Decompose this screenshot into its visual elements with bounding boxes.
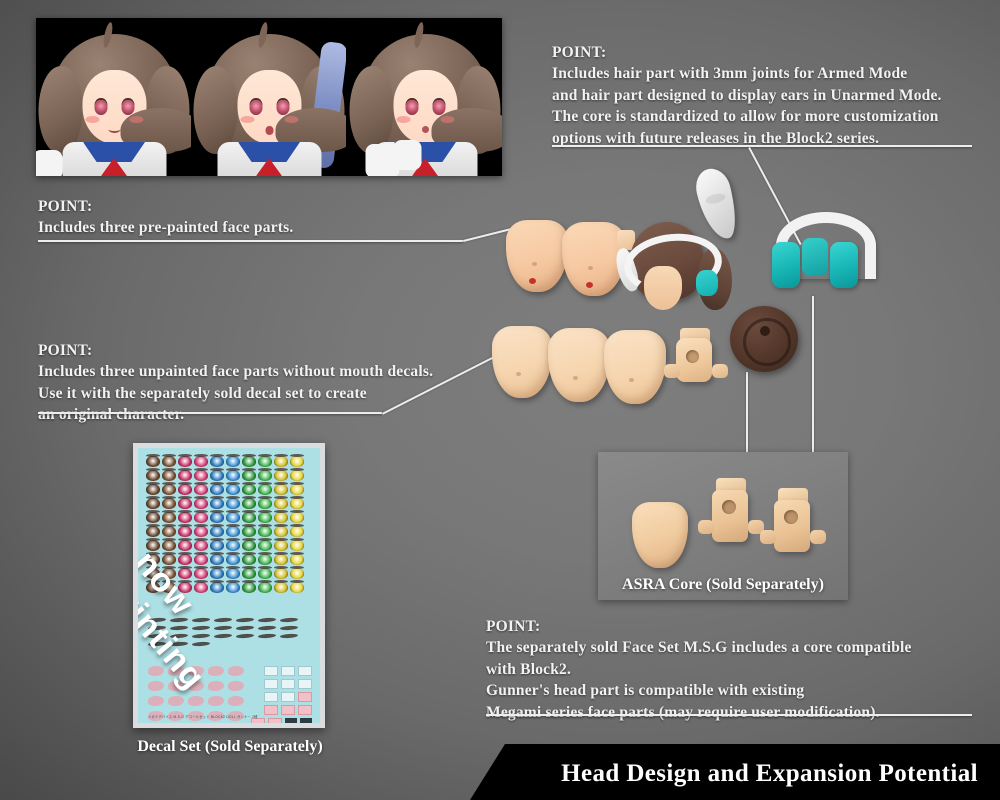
blush-decal	[148, 726, 164, 728]
unpainted-face-part-3	[604, 330, 666, 404]
leader-line-5	[746, 372, 748, 452]
eye-decal	[178, 470, 192, 481]
asra-core-part-2	[764, 488, 822, 562]
point-label: POINT:	[38, 340, 433, 361]
eye-decal	[146, 484, 160, 495]
point-hair-joints: POINT: Includes hair part with 3mm joint…	[552, 42, 942, 149]
eye-decal	[178, 498, 192, 509]
eye-decal	[194, 568, 208, 579]
eye-decal	[178, 554, 192, 565]
eyebrow-decal	[280, 625, 298, 630]
eye-decal	[226, 470, 240, 481]
eye-decal	[226, 484, 240, 495]
symbol-decal	[298, 666, 312, 676]
figure-photo-open-mouth	[191, 18, 346, 176]
eyebrow-decal	[258, 617, 276, 622]
figure-photo-surprised	[347, 18, 502, 176]
eye-decal	[274, 526, 288, 537]
point-line: Use it with the separately sold decal se…	[38, 383, 433, 404]
eyebrow-decal	[236, 617, 254, 622]
eye-decal	[258, 470, 272, 481]
symbol-decal	[298, 705, 312, 715]
decal-sheet: now printing メガミデバイス M.S.G デコールセット BLOCK…	[133, 443, 325, 728]
decal-footer-text: メガミデバイス M.S.G デコールセット BLOCK2 DOLL ガンナー 2…	[148, 714, 258, 719]
asra-core-part-1	[702, 478, 760, 552]
eye-decal	[290, 512, 304, 523]
hair-back-piece	[730, 306, 798, 372]
eye-decal	[274, 484, 288, 495]
eye-decal	[210, 568, 224, 579]
figure-photo-smiling	[36, 18, 191, 176]
unpainted-face-part-1	[492, 326, 552, 398]
eye-decal	[274, 582, 288, 593]
asra-face-shell	[632, 502, 688, 568]
eye-decal	[146, 512, 160, 523]
symbol-decal	[268, 718, 282, 728]
eye-decal	[226, 554, 240, 565]
symbol-decal	[281, 666, 295, 676]
divider-rule-4	[486, 714, 972, 716]
divider-rule-1	[38, 240, 463, 242]
eye-decal	[226, 498, 240, 509]
eye-decal	[162, 470, 176, 481]
eye-decal	[274, 498, 288, 509]
eye-decal	[178, 526, 192, 537]
blush-decal	[168, 726, 184, 728]
point-label: POINT:	[38, 196, 293, 217]
eye-decal	[178, 456, 192, 467]
eye-decal	[274, 568, 288, 579]
point-line: with Block2.	[486, 659, 912, 680]
eye-decal	[210, 526, 224, 537]
eye-decal	[242, 582, 256, 593]
symbol-decal	[281, 692, 295, 702]
eye-decal	[146, 498, 160, 509]
eyebrow-decal	[258, 633, 276, 638]
eye-decal	[290, 484, 304, 495]
eye-decal	[242, 554, 256, 565]
eye-decal	[258, 484, 272, 495]
point-line: Megami series face parts (may require us…	[486, 702, 912, 723]
eye-decal	[178, 540, 192, 551]
point-line: Includes three unpainted face parts with…	[38, 361, 433, 382]
eye-decal	[162, 526, 176, 537]
eye-decal	[290, 498, 304, 509]
eyebrow-decal	[236, 633, 254, 638]
point-line: and hair part designed to display ears i…	[552, 85, 942, 106]
point-line: Includes hair part with 3mm joints for A…	[552, 63, 942, 84]
eye-decal	[210, 484, 224, 495]
eye-decal	[242, 456, 256, 467]
eye-decal	[258, 554, 272, 565]
eye-decal	[210, 554, 224, 565]
eye-decal	[274, 456, 288, 467]
eye-decal	[274, 470, 288, 481]
divider-rule-3	[552, 145, 972, 147]
point-line: Includes three pre-painted face parts.	[38, 217, 293, 238]
eye-decal	[210, 582, 224, 593]
point-label: POINT:	[486, 616, 912, 637]
eye-decal	[162, 456, 176, 467]
eye-decal	[274, 540, 288, 551]
point-label: POINT:	[552, 42, 942, 63]
eye-decal	[178, 484, 192, 495]
symbol-decal	[281, 679, 295, 689]
eyebrow-decal	[280, 633, 298, 638]
symbol-decal	[298, 679, 312, 689]
eye-decal	[226, 512, 240, 523]
core-joint-part	[668, 328, 724, 394]
eye-decal	[194, 498, 208, 509]
eye-decal	[226, 456, 240, 467]
product-infographic: POINT: Includes three pre-painted face p…	[0, 0, 1000, 800]
eye-decal	[290, 470, 304, 481]
eye-decal	[274, 554, 288, 565]
eye-decal	[194, 540, 208, 551]
eye-decal	[258, 512, 272, 523]
symbol-decal	[285, 718, 297, 726]
eye-decal	[242, 526, 256, 537]
eye-decal	[210, 512, 224, 523]
headphone-ear-part	[772, 212, 858, 294]
eye-decal	[194, 512, 208, 523]
leader-line-4	[812, 296, 814, 452]
symbol-decal	[300, 718, 312, 726]
eye-decal	[290, 456, 304, 467]
eye-decal	[290, 568, 304, 579]
figure-photo-strip	[36, 18, 502, 176]
blush-decal	[208, 726, 224, 728]
banner-title: Head Design and Expansion Potential	[561, 760, 978, 788]
blush-decal	[228, 726, 244, 728]
eye-decal	[242, 540, 256, 551]
eye-decal	[194, 456, 208, 467]
eyebrow-decal	[258, 625, 276, 630]
eye-decal	[242, 484, 256, 495]
eye-decal	[210, 456, 224, 467]
symbol-decal	[264, 705, 278, 715]
eye-decal	[194, 484, 208, 495]
eye-decal	[274, 512, 288, 523]
blush-decal	[168, 696, 184, 706]
eye-decal	[258, 526, 272, 537]
eye-decal	[162, 484, 176, 495]
asra-core-caption: ASRA Core (Sold Separately)	[598, 576, 848, 594]
divider-rule-2	[38, 412, 382, 414]
unpainted-face-part-2	[548, 328, 610, 402]
eye-decal	[194, 470, 208, 481]
eye-decal	[146, 470, 160, 481]
eye-decal	[226, 568, 240, 579]
hair-part-armed-mode	[620, 222, 728, 314]
painted-face-part-1	[506, 220, 568, 292]
eye-decal	[226, 582, 240, 593]
point-prepainted-faces: POINT: Includes three pre-painted face p…	[38, 196, 293, 239]
eye-decal	[258, 540, 272, 551]
eye-decal	[146, 456, 160, 467]
point-line: The core is standardized to allow for mo…	[552, 106, 942, 127]
eye-decal	[194, 554, 208, 565]
eye-decal	[178, 512, 192, 523]
eye-decal	[242, 512, 256, 523]
eye-decal	[242, 498, 256, 509]
eye-decal	[290, 554, 304, 565]
eye-decal	[162, 512, 176, 523]
point-face-set-msg: POINT: The separately sold Face Set M.S.…	[486, 616, 912, 723]
eye-decal	[290, 540, 304, 551]
point-line: Gunner's head part is compatible with ex…	[486, 680, 912, 701]
eye-decal	[258, 568, 272, 579]
blush-decal	[148, 681, 164, 691]
point-line: an original character.	[38, 404, 433, 425]
eye-decal	[146, 526, 160, 537]
point-line: The separately sold Face Set M.S.G inclu…	[486, 637, 912, 658]
eye-decal	[258, 456, 272, 467]
eye-decal	[258, 498, 272, 509]
eyebrow-decal	[280, 617, 298, 622]
decal-set-caption: Decal Set (Sold Separately)	[60, 738, 400, 756]
blush-decal	[188, 726, 204, 728]
eye-decal	[210, 498, 224, 509]
eye-decal	[162, 540, 176, 551]
eye-decal	[242, 470, 256, 481]
blush-decal	[148, 696, 164, 706]
eye-decal	[258, 582, 272, 593]
eye-decal	[290, 582, 304, 593]
eye-decal	[242, 568, 256, 579]
eye-decal	[226, 540, 240, 551]
eyebrow-decal	[236, 625, 254, 630]
symbol-decal	[298, 692, 312, 702]
symbol-decal	[281, 705, 295, 715]
asra-core-panel: ASRA Core (Sold Separately)	[598, 452, 848, 600]
eye-decal	[226, 526, 240, 537]
eye-decal	[210, 470, 224, 481]
eye-decal	[290, 526, 304, 537]
eye-decal	[194, 526, 208, 537]
eye-decal	[162, 498, 176, 509]
symbol-decal	[251, 718, 265, 728]
eye-decal	[210, 540, 224, 551]
